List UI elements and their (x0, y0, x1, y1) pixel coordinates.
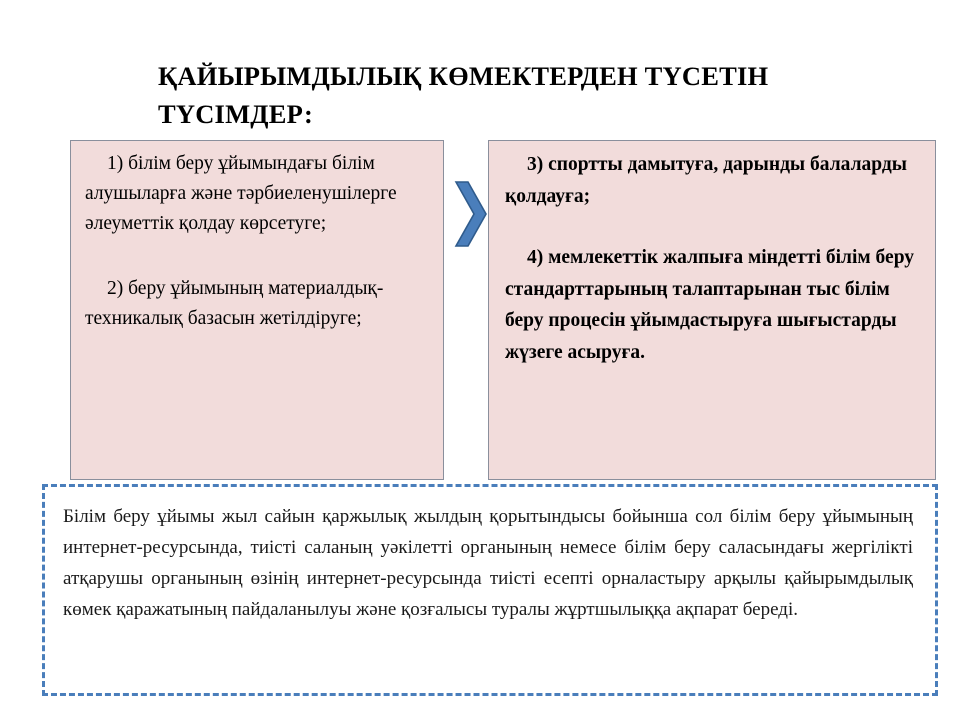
left-panel-item-2: 2) беру ұйымының материалдық-техникалық … (85, 274, 431, 334)
footnote-box: Білім беру ұйымы жыл сайын қаржылық жылд… (42, 484, 938, 696)
page-title: ҚАЙЫРЫМДЫЛЫҚ КӨМЕКТЕРДЕН ТҮСЕТІН ТҮСІМДЕ… (158, 58, 918, 133)
right-panel-item-4: 4) мемлекеттік жалпыға міндетті білім бе… (505, 242, 923, 368)
left-panel-item-1: 1) білім беру ұйымындағы білім алушыларғ… (85, 149, 431, 240)
footnote-text: Білім беру ұйымы жыл сайын қаржылық жылд… (63, 501, 913, 626)
right-content-panel: 3) спортты дамытуға, дарынды балаларды қ… (488, 140, 936, 480)
slide-canvas: ҚАЙЫРЫМДЫЛЫҚ КӨМЕКТЕРДЕН ТҮСЕТІН ТҮСІМДЕ… (0, 0, 960, 720)
right-panel-item-3: 3) спортты дамытуға, дарынды балаларды қ… (505, 149, 923, 212)
left-content-panel: 1) білім беру ұйымындағы білім алушыларғ… (70, 140, 444, 480)
chevron-right-icon (452, 176, 488, 252)
right-panel-spacer (505, 212, 923, 242)
left-panel-spacer (85, 240, 431, 274)
